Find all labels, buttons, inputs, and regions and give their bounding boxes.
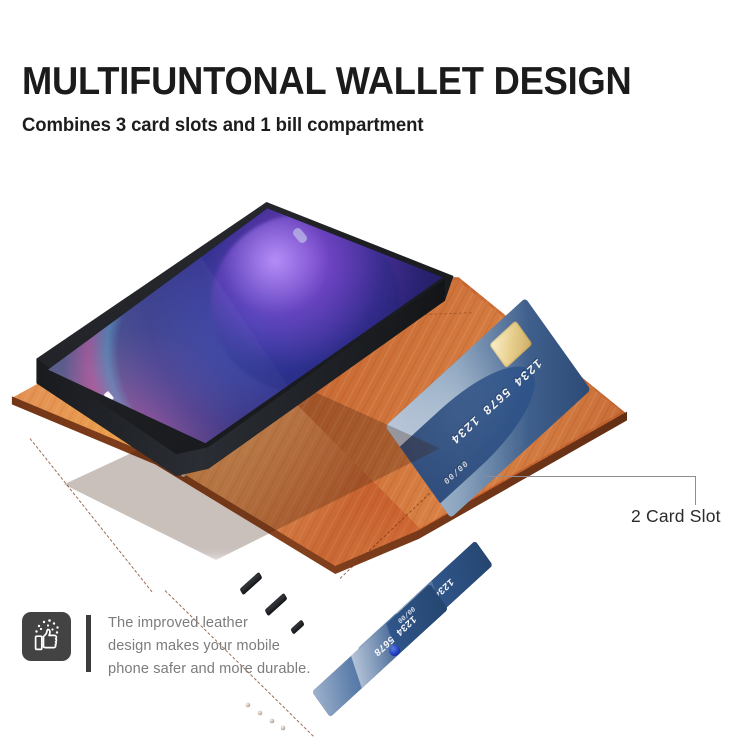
card-slot-3: 1234 5678 00/00 [312,584,448,718]
feature-description: The improved leather design makes your m… [108,612,310,681]
callout-label: 2 Card Slot [631,506,721,527]
feature-line: The improved leather [108,612,310,635]
feature-line: phone safer and more durable. [108,658,310,681]
card-chip-icon [489,320,533,368]
header: MULTIFUNTONAL WALLET DESIGN Combines 3 c… [22,62,722,137]
page-subtitle: Combines 3 card slots and 1 bill compart… [22,114,687,137]
product-image: 1234 5678 1234 00/00 1234 5678 1234 5678… [0,180,750,610]
callout-leader-line-horizontal [485,476,696,477]
rivet-dot [246,703,250,707]
card-accent-dot [389,645,400,656]
feature-callout: The improved leather design makes your m… [22,612,310,681]
feature-divider-bar [86,615,91,672]
feature-line: design makes your mobile [108,635,310,658]
page-title: MULTIFUNTONAL WALLET DESIGN [22,62,673,101]
thumbs-up-sparkle-icon [22,612,71,661]
rivet-dot [281,726,285,730]
rivet-dot [270,719,274,723]
rivet-dot [258,711,262,715]
callout-leader-line-vertical [695,476,696,505]
